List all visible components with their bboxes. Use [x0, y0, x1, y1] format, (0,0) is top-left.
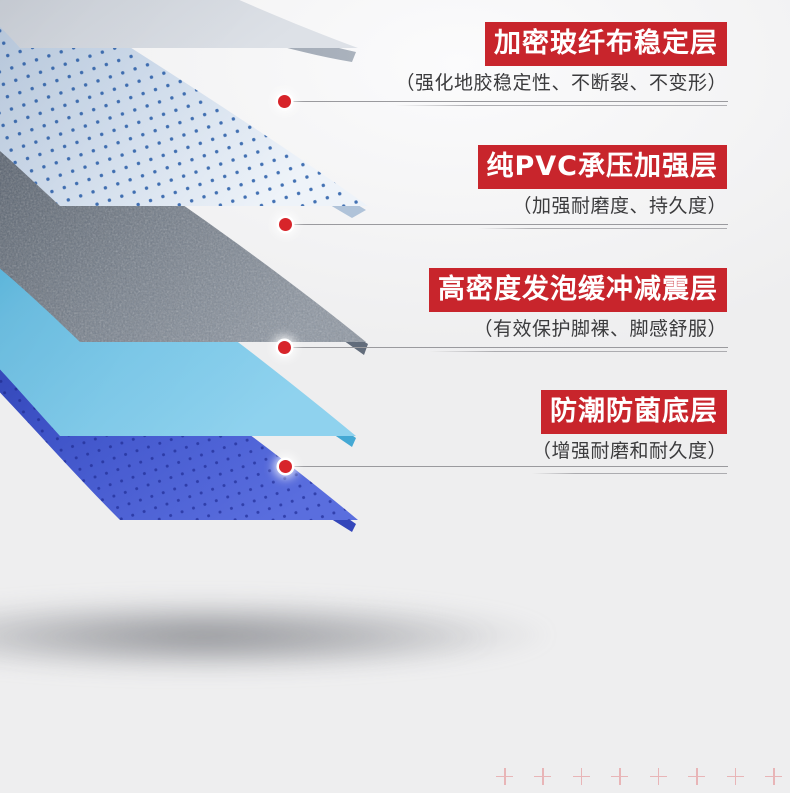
infographic-stage: 加密玻纤布稳定层 （强化地胶稳定性、不断裂、不变形） 纯PVC承压加强层 （加强…: [0, 0, 790, 793]
callout-subtitle: （有效保护脚裸、脚感舒服）: [429, 320, 727, 339]
callout-title: 高密度发泡缓冲减震层: [429, 268, 727, 312]
callout-underline: [395, 105, 727, 106]
callout-underline: [478, 228, 728, 229]
marker-dot-pvc-wear[interactable]: [279, 218, 292, 231]
marker-dot-foam-cushion[interactable]: [278, 341, 291, 354]
callout-moisture-barrier[interactable]: 防潮防菌底层 （增强耐磨和耐久度）: [532, 390, 727, 474]
callout-subtitle: （增强耐磨和耐久度）: [532, 442, 727, 461]
callout-title: 加密玻纤布稳定层: [485, 22, 727, 66]
callout-title: 纯PVC承压加强层: [478, 145, 728, 189]
callout-subtitle: （加强耐磨度、持久度）: [478, 197, 728, 216]
marker-dot-moisture-barrier[interactable]: [279, 460, 292, 473]
callout-underline: [532, 473, 727, 474]
callout-subtitle: （强化地胶稳定性、不断裂、不变形）: [395, 74, 727, 93]
callout-fiberglass-mesh[interactable]: 加密玻纤布稳定层 （强化地胶稳定性、不断裂、不变形）: [395, 22, 727, 106]
callout-underline: [429, 351, 727, 352]
callout-foam-cushion[interactable]: 高密度发泡缓冲减震层 （有效保护脚裸、脚感舒服）: [429, 268, 727, 352]
callout-pvc-wear[interactable]: 纯PVC承压加强层 （加强耐磨度、持久度）: [478, 145, 728, 229]
callout-title: 防潮防菌底层: [541, 390, 727, 434]
marker-dot-fiberglass-mesh[interactable]: [278, 95, 291, 108]
